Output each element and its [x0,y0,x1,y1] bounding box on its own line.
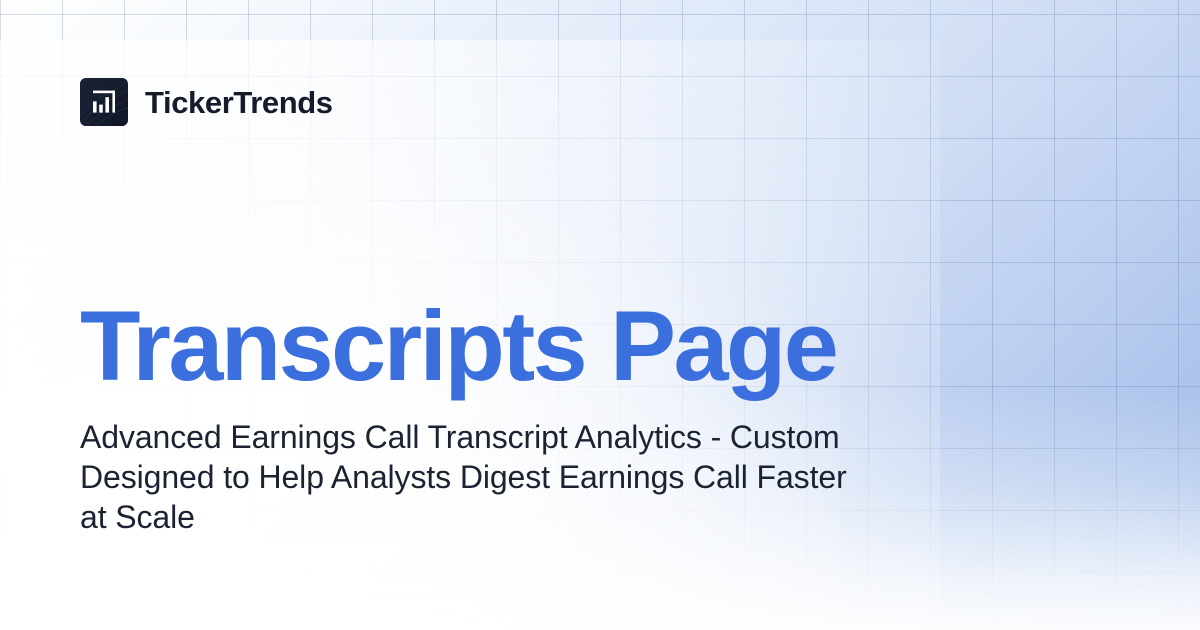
bar-chart-icon [80,78,128,126]
brand-lockup: TickerTrends [80,78,333,126]
card-content: TickerTrends Transcripts Page Advanced E… [0,0,1200,630]
page-title: Transcripts Page [80,296,980,395]
hero-text-block: Transcripts Page Advanced Earnings Call … [80,296,980,537]
og-card-canvas: TickerTrends Transcripts Page Advanced E… [0,0,1200,630]
page-subtitle: Advanced Earnings Call Transcript Analyt… [80,417,880,537]
brand-name: TickerTrends [145,87,333,118]
